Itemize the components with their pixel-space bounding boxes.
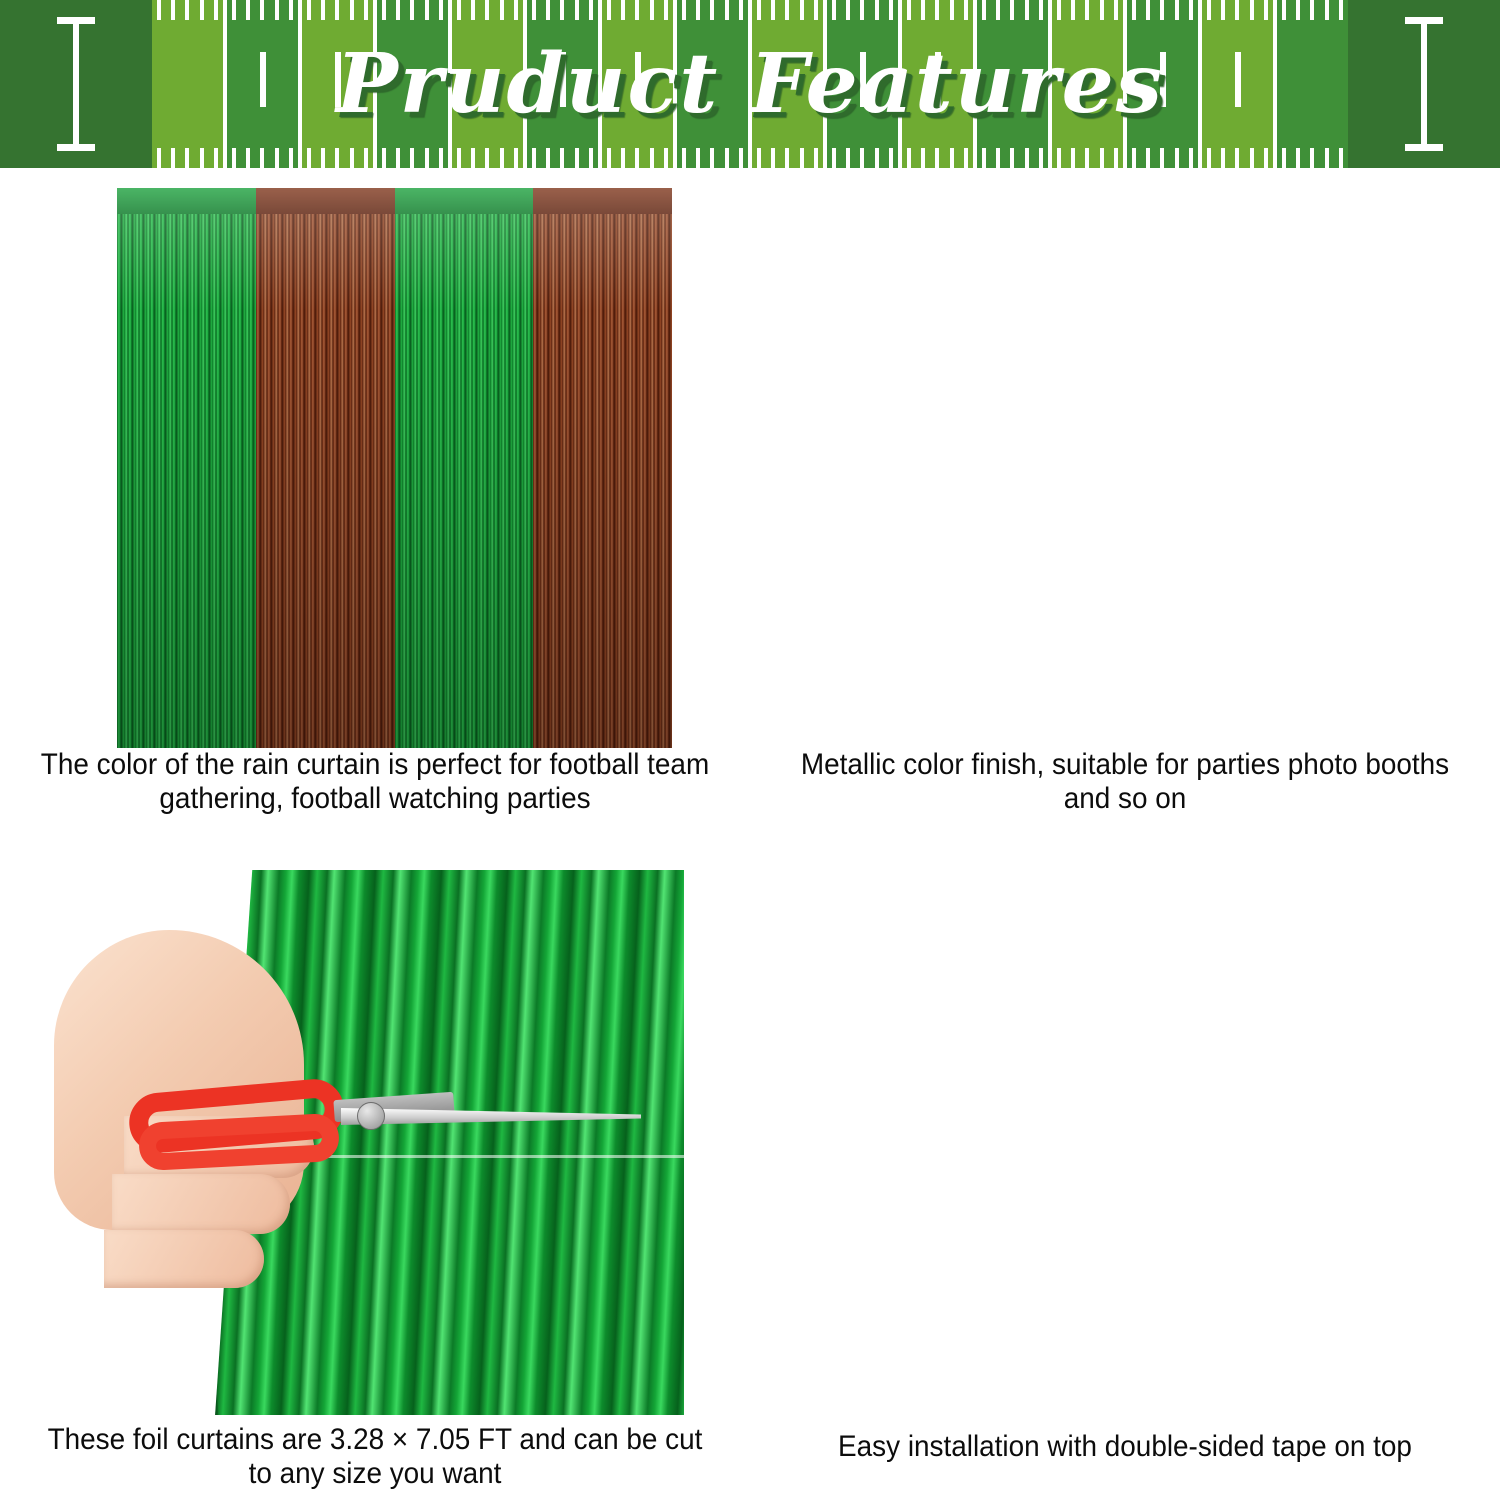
feature-cell-metallic-finish: Metallic color finish, suitable for part…	[750, 168, 1500, 860]
finger	[112, 1174, 290, 1234]
fringe-strands	[256, 208, 395, 748]
curtain-panel-green-2	[395, 188, 534, 748]
page-title: Pruduct Features	[0, 0, 1500, 168]
panel-header-strip	[256, 188, 395, 214]
photo-four-panel-foil-curtains	[117, 188, 672, 748]
photo-scissors-cutting-curtain	[24, 870, 684, 1415]
scissors-handle-lower	[138, 1113, 340, 1171]
feature-cell-easy-install: Easy installation with double-sided tape…	[750, 860, 1500, 1493]
panel-header-strip	[395, 188, 534, 214]
panel-header-strip	[533, 188, 672, 214]
page-header-banner: Pruduct Features	[0, 0, 1500, 168]
scissors	[129, 1060, 649, 1180]
feature-grid: The color of the rain curtain is perfect…	[0, 168, 1500, 1493]
feature-caption-cuttable-size: These foil curtains are 3.28 × 7.05 FT a…	[26, 1423, 724, 1491]
finger	[104, 1230, 264, 1288]
scissors-blade	[341, 1108, 641, 1125]
feature-caption-metallic-finish: Metallic color finish, suitable for part…	[776, 748, 1474, 816]
curtain-panel-brown-1	[256, 188, 395, 748]
panel-header-strip	[117, 188, 256, 214]
fringe-strands	[117, 208, 256, 748]
feature-cell-cuttable-size: These foil curtains are 3.28 × 7.05 FT a…	[0, 860, 750, 1493]
feature-cell-color-match: The color of the rain curtain is perfect…	[0, 168, 750, 860]
curtain-panel-brown-2	[533, 188, 672, 748]
feature-caption-color-match: The color of the rain curtain is perfect…	[26, 748, 724, 816]
scissors-pivot-screw	[357, 1102, 385, 1130]
curtain-panel-green-1	[117, 188, 256, 748]
feature-caption-easy-install: Easy installation with double-sided tape…	[776, 1430, 1474, 1464]
fringe-strands	[533, 208, 672, 748]
fringe-strands	[395, 208, 534, 748]
